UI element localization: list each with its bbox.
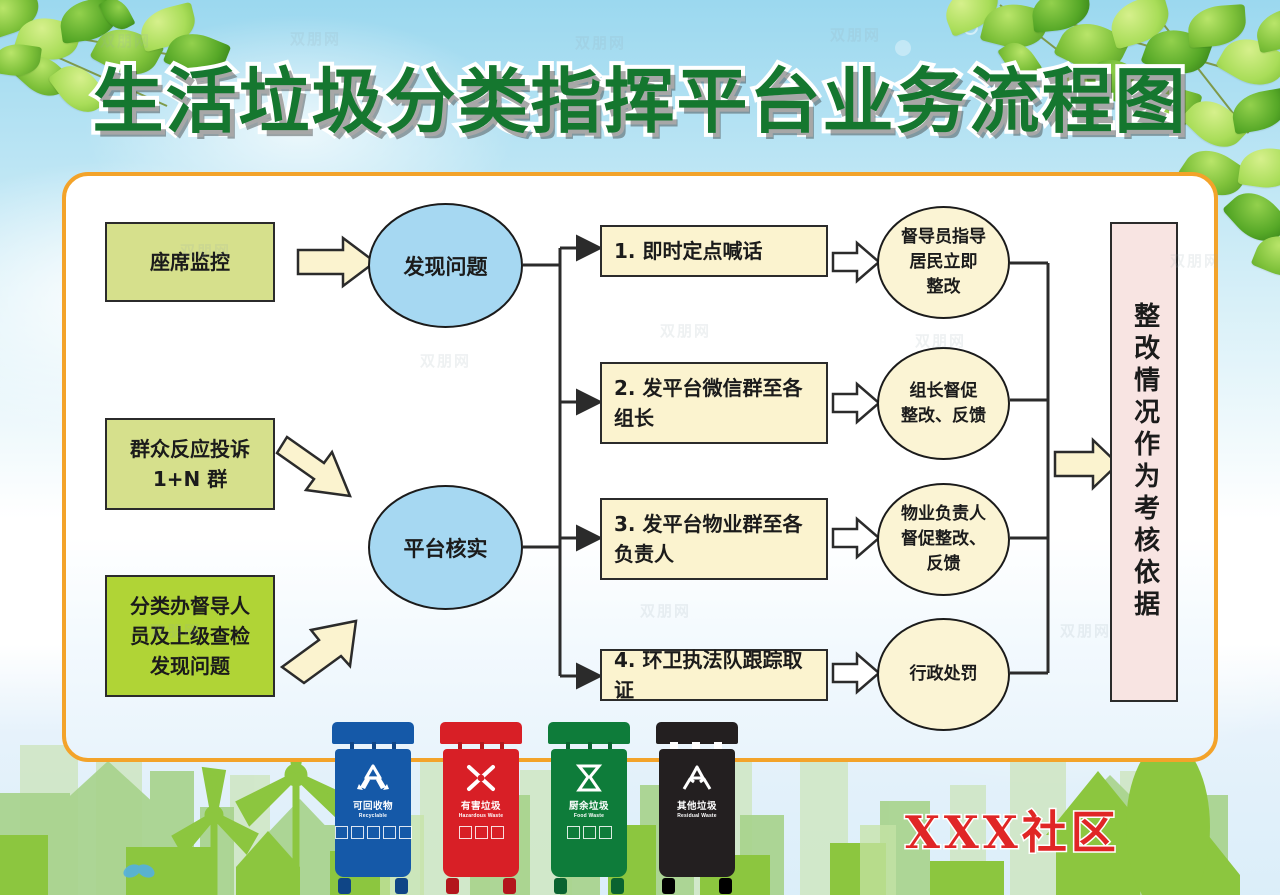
outcome-ellipse-3-line1: 物业负责人 (901, 502, 986, 527)
source-box-1-label: 座席监控 (150, 247, 230, 277)
source-box-3-line3: 发现问题 (150, 651, 230, 681)
bin-item-icons (567, 826, 612, 839)
bokeh-circle (895, 40, 911, 56)
step-box-3-line2: 负责人 (614, 539, 674, 569)
bin-label-cn: 可回收物 (353, 798, 393, 812)
step-box-2[interactable]: 2. 发平台微信群至各 组长 (600, 362, 828, 444)
step-box-3[interactable]: 3. 发平台物业群至各 负责人 (600, 498, 828, 580)
result-box-label: 整改情况作为考核依据 (1130, 302, 1157, 622)
bokeh-circle (963, 20, 978, 35)
hub-ellipse-discover[interactable]: 发现问题 (368, 203, 523, 328)
bin-label-cn: 有害垃圾 (461, 798, 501, 812)
step-box-4-label: 4. 环卫执法队跟踪取证 (614, 645, 814, 705)
outcome-ellipse-2-line1: 组长督促 (910, 379, 978, 404)
bin-label-en: Hazardous Waste (459, 813, 504, 819)
outcome-ellipse-3[interactable]: 物业负责人 督促整改、 反馈 (877, 483, 1010, 596)
waste-bin-food[interactable]: 厨余垃圾 Food Waste (546, 722, 632, 894)
waste-bin-group: 可回收物 Recyclable 有害垃圾 Hazardous (330, 722, 750, 895)
bin-label-en: Food Waste (574, 813, 604, 819)
source-box-1[interactable]: 座席监控 (105, 222, 275, 302)
step-box-2-line1: 2. 发平台微信群至各 (614, 373, 802, 403)
outcome-ellipse-3-line3: 反馈 (927, 552, 961, 577)
poster-canvas: 生活垃圾分类指挥平台业务流程图 (0, 0, 1280, 895)
page-title: 生活垃圾分类指挥平台业务流程图 (0, 66, 1280, 137)
outcome-ellipse-2[interactable]: 组长督促 整改、反馈 (877, 347, 1010, 460)
bin-label-cn: 厨余垃圾 (569, 798, 609, 812)
source-box-2-line2: 1+N 群 (153, 464, 227, 494)
recycle-symbol-icon (356, 763, 390, 793)
step-box-2-line2: 组长 (614, 403, 654, 433)
hub-ellipse-discover-label: 发现问题 (404, 251, 488, 281)
outcome-ellipse-4-label: 行政处罚 (910, 662, 978, 687)
outcome-ellipse-4[interactable]: 行政处罚 (877, 618, 1010, 731)
food-symbol-icon (572, 763, 606, 793)
step-box-1-label: 1. 即时定点喊话 (614, 236, 762, 266)
step-box-4[interactable]: 4. 环卫执法队跟踪取证 (600, 649, 828, 701)
outcome-ellipse-1-line1: 督导员指导 (901, 225, 986, 250)
bin-item-icons (459, 826, 504, 839)
source-box-3[interactable]: 分类办督导人 员及上级查检 发现问题 (105, 575, 275, 697)
bin-label-en: Residual Waste (677, 813, 717, 819)
source-box-3-line2: 员及上级查检 (130, 621, 250, 651)
waste-bin-residual[interactable]: 其他垃圾 Residual Waste (654, 722, 740, 894)
hub-ellipse-verify[interactable]: 平台核实 (368, 485, 523, 610)
outcome-ellipse-1[interactable]: 督导员指导 居民立即 整改 (877, 206, 1010, 319)
hazard-symbol-icon (464, 763, 498, 793)
outcome-ellipse-1-line3: 整改 (927, 275, 961, 300)
result-box[interactable]: 整改情况作为考核依据 (1110, 222, 1178, 702)
source-box-2-line1: 群众反应投诉 (130, 434, 250, 464)
source-box-2[interactable]: 群众反应投诉 1+N 群 (105, 418, 275, 510)
waste-bin-hazardous[interactable]: 有害垃圾 Hazardous Waste (438, 722, 524, 894)
outcome-ellipse-2-line2: 整改、反馈 (901, 404, 986, 429)
bin-label-en: Recyclable (359, 813, 387, 819)
step-box-3-line1: 3. 发平台物业群至各 (614, 509, 802, 539)
step-box-1[interactable]: 1. 即时定点喊话 (600, 225, 828, 277)
community-name: XXX社区 (905, 796, 1120, 861)
outcome-ellipse-1-line2: 居民立即 (910, 250, 978, 275)
bin-item-icons (335, 826, 412, 839)
residual-symbol-icon (680, 763, 714, 793)
hub-ellipse-verify-label: 平台核实 (404, 533, 488, 563)
source-box-3-line1: 分类办督导人 (130, 591, 250, 621)
waste-bin-recyclable[interactable]: 可回收物 Recyclable (330, 722, 416, 894)
outcome-ellipse-3-line2: 督促整改、 (901, 527, 986, 552)
bin-label-cn: 其他垃圾 (677, 798, 717, 812)
